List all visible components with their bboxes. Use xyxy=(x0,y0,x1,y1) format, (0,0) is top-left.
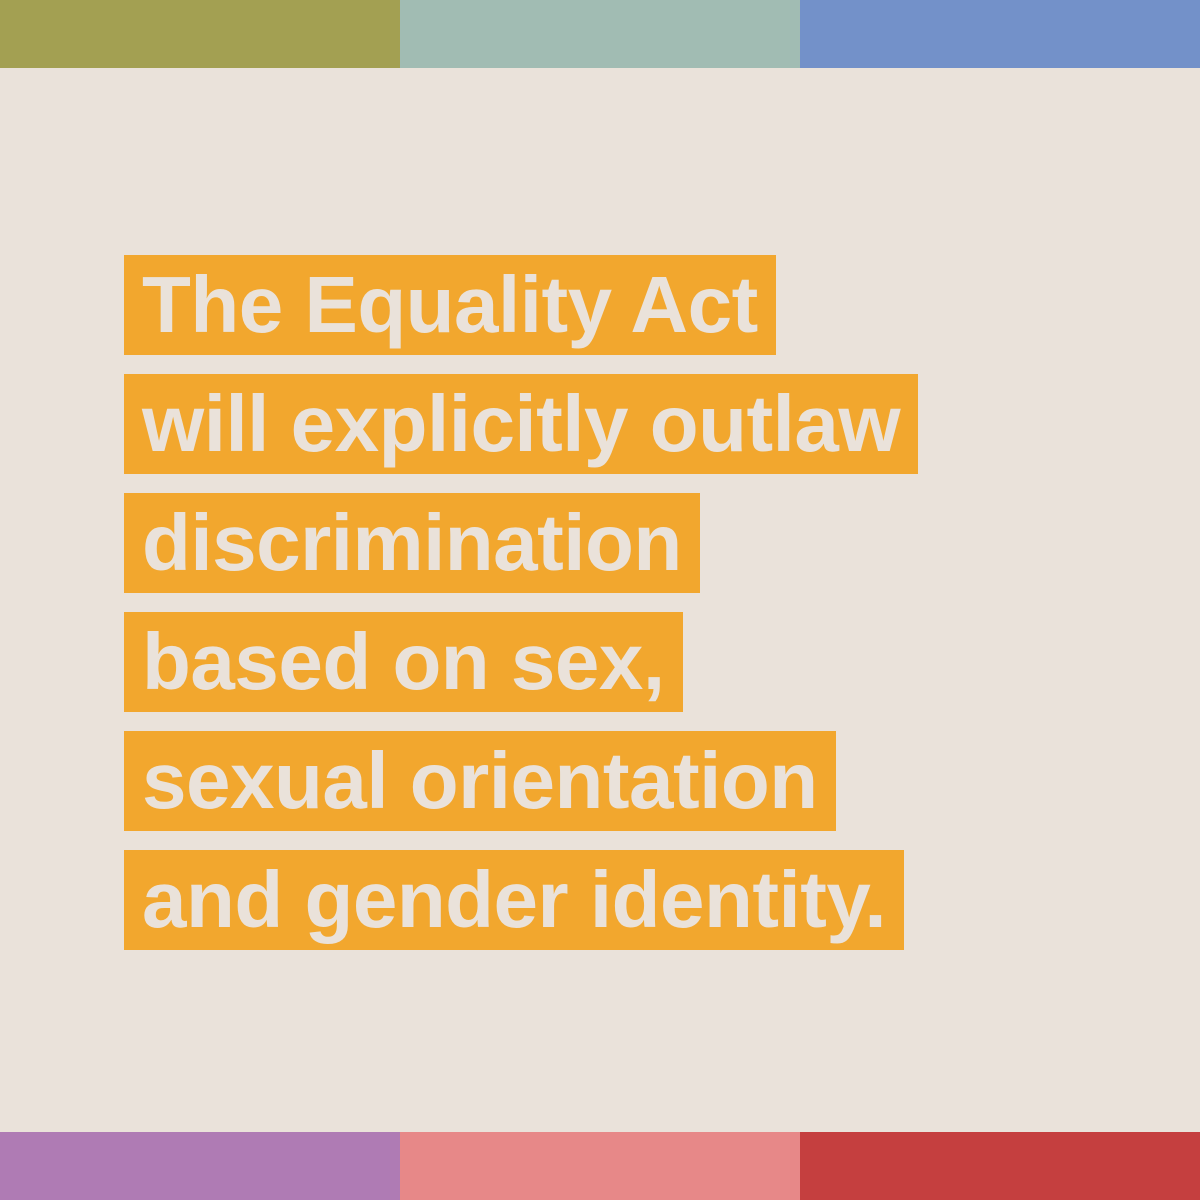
headline-line-4: based on sex, xyxy=(124,612,683,712)
headline-line-5: sexual orientation xyxy=(124,731,836,831)
color-swatch-olive xyxy=(0,0,400,68)
headline-block: The Equality Act will explicitly outlaw … xyxy=(124,255,1144,950)
headline-line-6: and gender identity. xyxy=(124,850,904,950)
color-swatch-blue xyxy=(800,0,1200,68)
color-swatch-sage xyxy=(400,0,800,68)
headline-line-3: discrimination xyxy=(124,493,700,593)
poster-canvas: The Equality Act will explicitly outlaw … xyxy=(0,0,1200,1200)
color-swatch-orchid xyxy=(0,1132,400,1200)
headline-line-2: will explicitly outlaw xyxy=(124,374,918,474)
headline-line-1: The Equality Act xyxy=(124,255,776,355)
color-swatch-salmon xyxy=(400,1132,800,1200)
top-color-band xyxy=(0,0,1200,68)
bottom-color-band xyxy=(0,1132,1200,1200)
color-swatch-red xyxy=(800,1132,1200,1200)
